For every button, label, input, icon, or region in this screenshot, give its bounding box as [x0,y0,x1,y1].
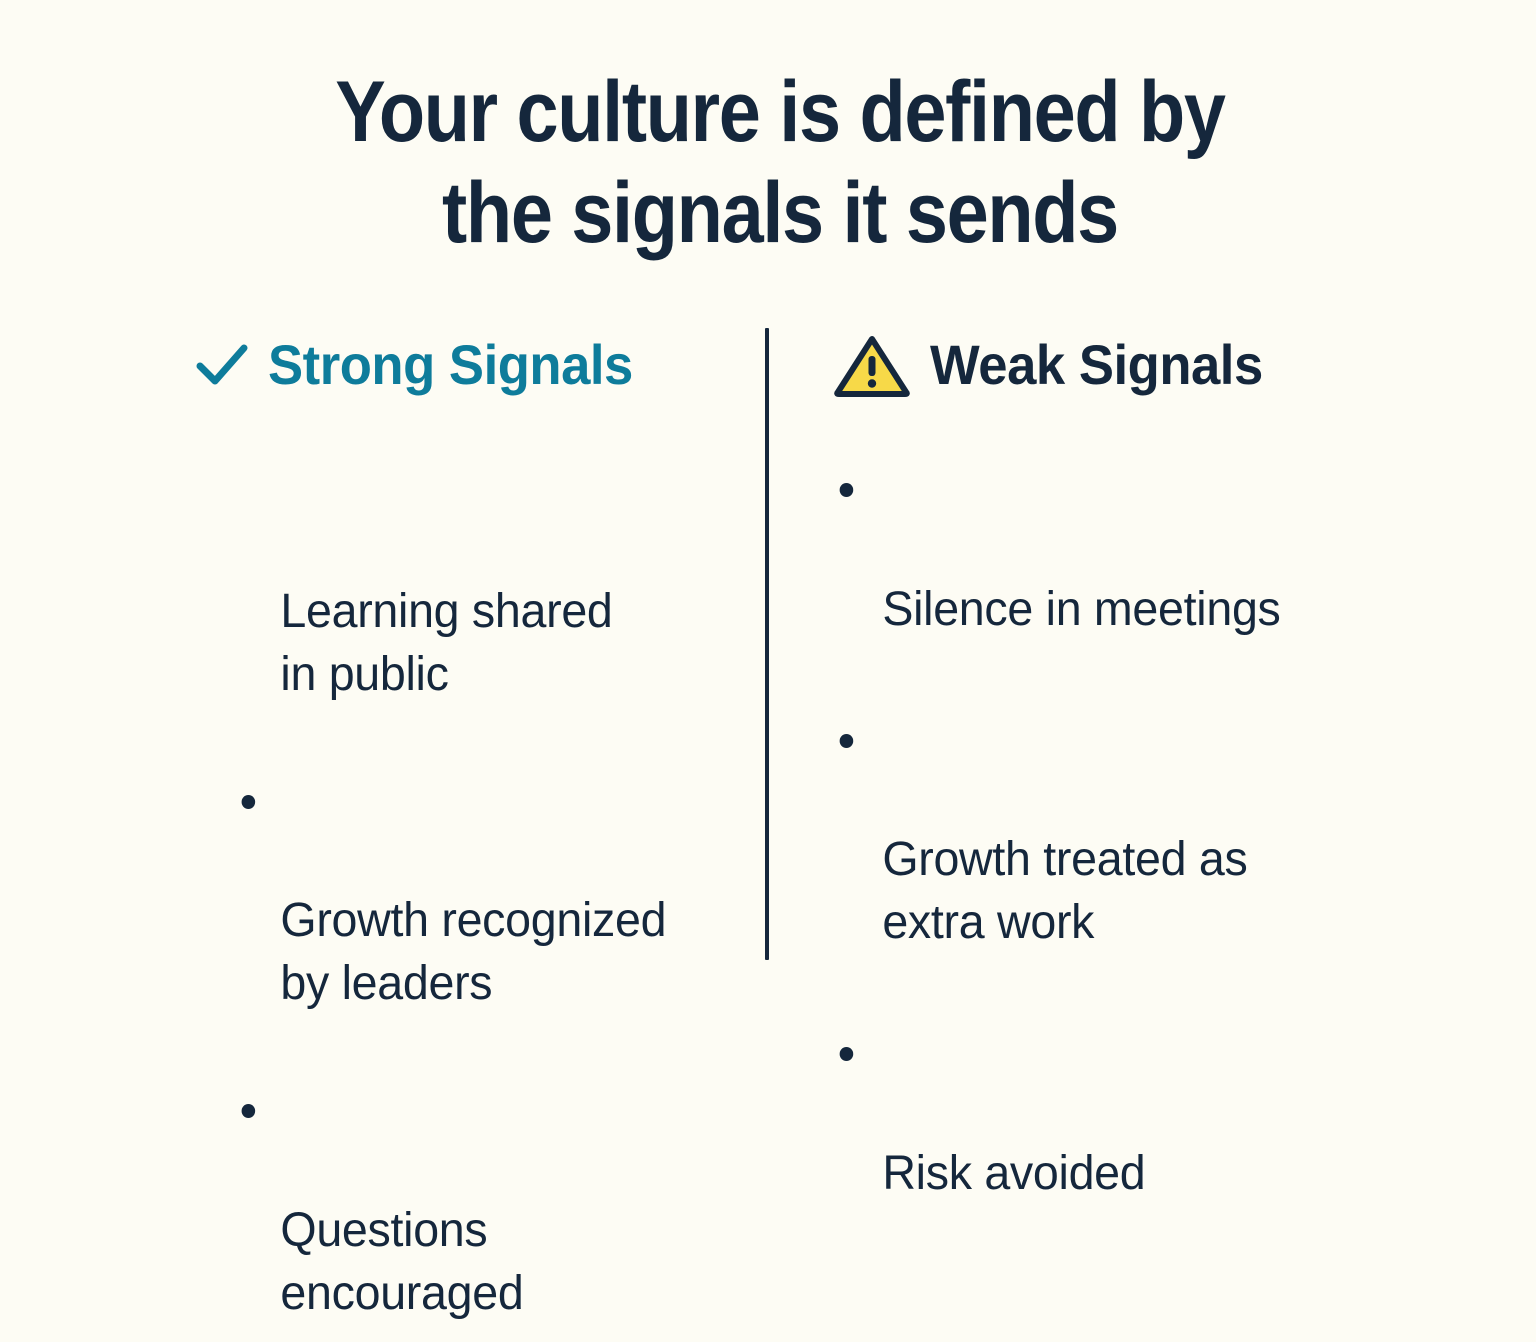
list-item: Questions encouraged [196,1074,734,1326]
bullet-dot-icon [840,734,854,748]
column-header-strong: Strong Signals [196,325,751,405]
list-item: Learning shared in public [196,455,734,707]
list-item: Growth recognized by leaders [196,765,734,1017]
list-item-text: Growth recognized by leaders [280,894,666,1010]
bullet-dot-icon [840,1047,854,1061]
column-header-weak: Weak Signals [828,325,1388,405]
bullet-dot-icon [840,483,854,497]
slide-canvas: Your culture is defined by the signals i… [0,0,1536,1024]
list-item-text: Questions encouraged [280,1204,523,1320]
column-header-weak-label: Weak Signals [930,337,1263,393]
weak-signals-list: Silence in meetings Growth treated as ex… [828,453,1388,1206]
list-item-text: Risk avoided [882,1147,1145,1200]
comparison-columns: Strong Signals Learning shared in public… [0,325,1536,985]
column-divider [765,328,769,960]
bullet-dot-icon [242,1104,256,1118]
list-item: Risk avoided [828,1017,1371,1206]
strong-signals-list: Learning shared in public Growth recogni… [196,455,751,1326]
bullet-dot-icon [242,795,256,809]
list-item-text: Growth treated as extra work [882,833,1247,949]
check-icon [194,339,250,391]
column-weak-signals: Weak Signals Silence in meetings Growth … [828,325,1388,1268]
list-item-text: Learning shared in public [280,585,612,701]
list-item-text: Silence in meetings [882,583,1280,636]
page-title: Your culture is defined by the signals i… [252,62,1308,263]
column-strong-signals: Strong Signals Learning shared in public… [196,325,751,1342]
list-item: Silence in meetings [828,453,1371,642]
list-item: Growth treated as extra work [828,704,1371,956]
column-header-strong-label: Strong Signals [268,337,633,393]
warning-triangle-icon [832,332,912,398]
